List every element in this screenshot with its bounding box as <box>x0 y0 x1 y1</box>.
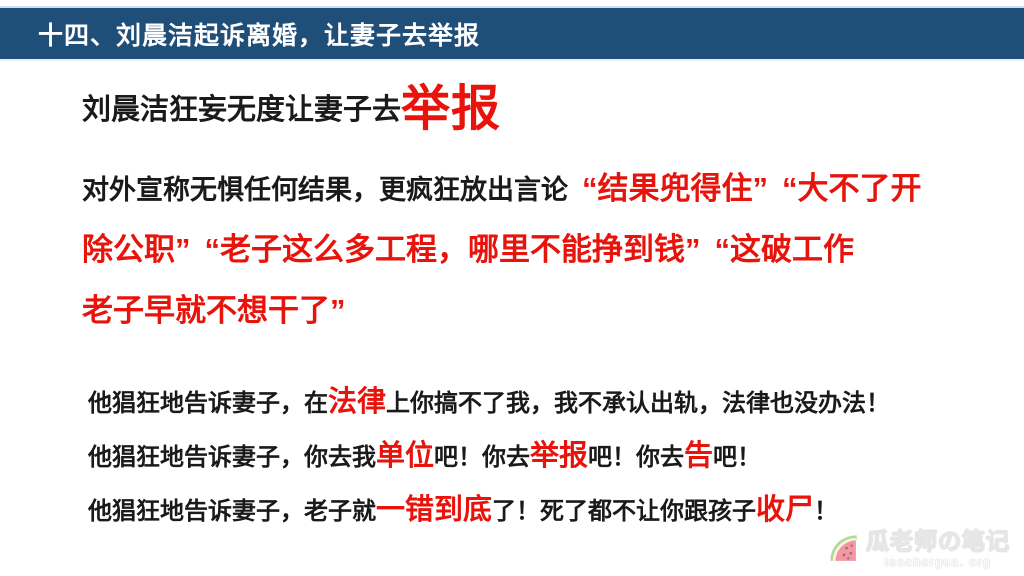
watermark-url: teachergua. org <box>885 556 992 568</box>
headline-black-text: 刘晨洁狂妄无度让妻子去 <box>82 94 401 126</box>
quote-lousy-job-part2: 老子早就不想干了” <box>82 293 346 328</box>
statement-line-3: 他猖狂地告诉妻子，老子就一错到底了！死了都不让你跟孩子收尸！ <box>88 484 1008 538</box>
quotes-line-2: 除公职”“老子这么多工程，哪里不能挣到钱”“这破工作 <box>82 220 1002 281</box>
statement-line-2: 他猖狂地告诉妻子，你去我单位吧！你去举报吧！你去告吧！ <box>88 430 1008 484</box>
quotes-line-1: 对外宣称无惧任何结果，更疯狂放出言论“结果兜得住”“大不了开 <box>82 159 1002 220</box>
statement-3-segment-3: ！ <box>814 498 838 525</box>
quote-fired-part1: “大不了开 <box>782 171 922 206</box>
statement-1-red-1: 法律 <box>328 386 386 418</box>
quote-fired-part2: 除公职” <box>82 232 191 267</box>
statement-3-segment-1: 他猖狂地告诉妻子，老子就 <box>88 498 376 525</box>
slide-header-band: 十四、刘晨洁起诉离婚，让妻子去举报 <box>0 6 1024 61</box>
quote-many-projects: “老子这么多工程，哪里不能挣到钱” <box>205 232 701 267</box>
statement-line-1: 他猖狂地告诉妻子，在法律上你搞不了我，我不承认出轨，法律也没办法！ <box>88 376 1008 430</box>
headline-paragraph: 刘晨洁狂妄无度让妻子去举报 <box>82 83 1002 136</box>
statements-paragraph: 他猖狂地告诉妻子，在法律上你搞不了我，我不承认出轨，法律也没办法！ 他猖狂地告诉… <box>88 376 1008 538</box>
statement-1-segment-1: 他猖狂地告诉妻子，在 <box>88 390 328 417</box>
statement-2-segment-2: 吧！你去 <box>434 444 530 471</box>
headline-line: 刘晨洁狂妄无度让妻子去举报 <box>82 83 1002 136</box>
statement-2-segment-3: 吧！你去 <box>588 444 684 471</box>
statement-2-red-2: 举报 <box>530 440 588 472</box>
statement-2-red-3: 告 <box>684 440 713 472</box>
slide-canvas: 十四、刘晨洁起诉离婚，让妻子去举报 刘晨洁狂妄无度让妻子去举报 对外宣称无惧任何… <box>0 0 1024 576</box>
statement-3-red-1: 一错到底 <box>376 494 492 526</box>
statement-3-red-2: 收尸 <box>756 494 814 526</box>
statement-2-segment-4: 吧！ <box>713 444 761 471</box>
statement-2-red-1: 单位 <box>376 440 434 472</box>
quotes-lead-black-text: 对外宣称无惧任何结果，更疯狂放出言论 <box>82 175 568 205</box>
page-title: 十四、刘晨洁起诉离婚，让妻子去举报 <box>38 16 480 52</box>
statement-2-segment-1: 他猖狂地告诉妻子，你去我 <box>88 444 376 471</box>
quotes-line-3: 老子早就不想干了” <box>82 281 1002 342</box>
headline-red-emphasis: 举报 <box>401 82 501 136</box>
slide-body: 刘晨洁狂妄无度让妻子去举报 对外宣称无惧任何结果，更疯狂放出言论“结果兜得住”“… <box>0 61 1024 576</box>
quote-lousy-job-part1: “这破工作 <box>715 232 855 267</box>
quotes-paragraph: 对外宣称无惧任何结果，更疯狂放出言论“结果兜得住”“大不了开 除公职”“老子这么… <box>82 159 1002 342</box>
quote-result-manageable: “结果兜得住” <box>582 171 768 206</box>
statement-3-segment-2: 了！死了都不让你跟孩子 <box>492 498 756 525</box>
statement-1-segment-2: 上你搞不了我，我不承认出轨，法律也没办法！ <box>386 390 890 417</box>
